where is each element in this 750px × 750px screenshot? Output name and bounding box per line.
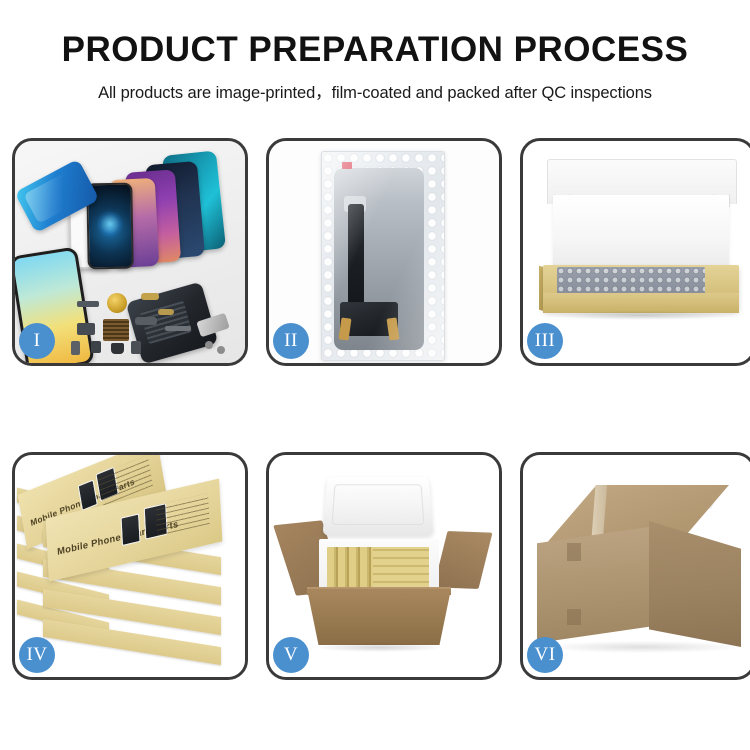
component-screw-1 <box>205 341 213 349</box>
component-vibrator <box>131 341 141 354</box>
process-steps-grid: I II <box>12 138 738 680</box>
process-step-panel-4[interactable]: Mobile Phone Spare Parts Mobile Phone Sp… <box>12 452 248 680</box>
bubble-wrapped-contents <box>557 267 705 295</box>
carton-seam-lower <box>567 609 581 625</box>
step-badge-4: IV <box>19 637 55 673</box>
drop-shadow <box>549 311 733 320</box>
component-gold-contact <box>158 309 174 315</box>
bubble-wrap-bag <box>321 151 445 361</box>
carton-body <box>307 589 451 645</box>
component-speaker-coil <box>107 293 127 313</box>
step-badge-3: III <box>527 323 563 359</box>
carton-seam-upper <box>567 543 581 561</box>
step-badge-1: I <box>19 323 55 359</box>
process-step-panel-6[interactable]: VI <box>520 452 750 680</box>
box-artwork-thumb-3 <box>121 513 141 546</box>
process-step-panel-2[interactable]: II <box>266 138 502 366</box>
white-foam-sheet <box>553 195 729 269</box>
kraft-box-front-wall <box>543 293 739 313</box>
component-button <box>71 341 80 355</box>
process-step-panel-3[interactable]: III <box>520 138 750 366</box>
step-badge-2: II <box>273 323 309 359</box>
sealed-carton <box>537 481 741 655</box>
process-step-panel-1[interactable]: I <box>12 138 248 366</box>
kraft-boxes-inside-row2 <box>373 547 429 589</box>
carton-left-face <box>537 527 649 643</box>
component-antenna-strip <box>135 317 157 325</box>
carton-right-face <box>649 521 741 647</box>
component-grid-board <box>103 319 129 341</box>
page-title: PRODUCT PREPARATION PROCESS <box>0 0 750 69</box>
component-screw-2 <box>217 346 225 354</box>
process-step-panel-5[interactable]: V <box>266 452 502 680</box>
component-bracket <box>77 323 95 335</box>
component-flex-cable <box>165 326 191 331</box>
component-chip <box>91 341 101 353</box>
step-badge-6: VI <box>527 637 563 673</box>
page-header: PRODUCT PREPARATION PROCESS All products… <box>0 0 750 120</box>
quality-sticker <box>342 162 352 169</box>
foam-lid <box>322 477 433 535</box>
component-gold-flex <box>141 293 159 300</box>
page-subtitle: All products are image-printed，film-coat… <box>0 69 750 103</box>
box-spec-lines-front <box>155 493 209 536</box>
drop-shadow <box>315 643 443 652</box>
component-camera-module <box>111 343 124 354</box>
component-connector <box>77 301 99 307</box>
drop-shadow <box>545 641 741 653</box>
step-badge-5: V <box>273 637 309 673</box>
